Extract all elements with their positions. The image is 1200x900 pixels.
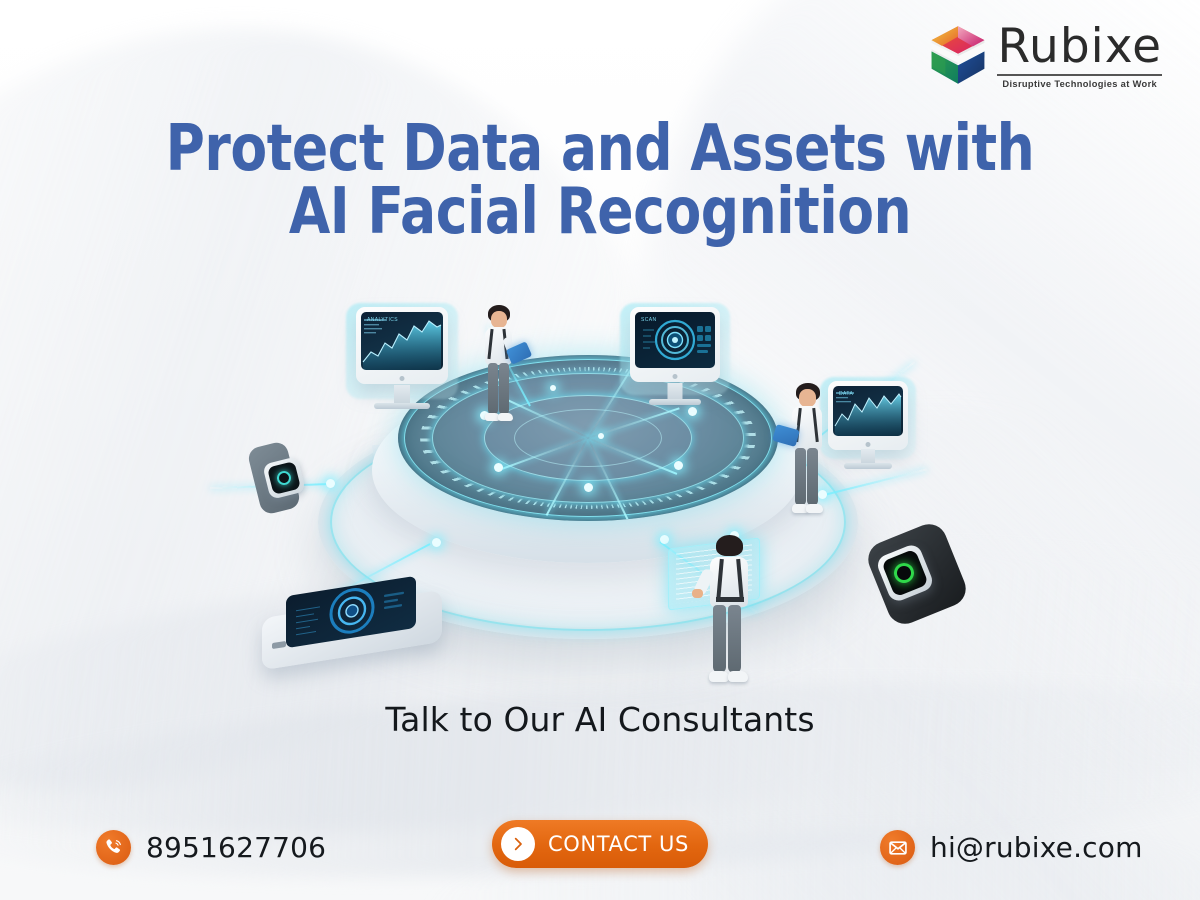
platform-connector-node	[660, 535, 669, 544]
logo-divider	[997, 74, 1162, 76]
hero-illustration: ANALYTICS	[0, 285, 1200, 725]
figure-with-tablet-left	[470, 305, 530, 435]
phone-contact[interactable]: 8951627706	[96, 830, 326, 865]
monitor-analytics-right: DATA	[828, 381, 908, 450]
envelope-icon	[880, 830, 915, 865]
rubixe-hexagon-cube-logo-icon	[929, 24, 987, 86]
scanner-node	[550, 385, 556, 391]
scanner-node	[674, 461, 683, 470]
contact-us-button[interactable]: CONTACT US	[492, 820, 708, 868]
headline-line-2: AI Facial Recognition	[42, 181, 1158, 244]
monitor-analytics-left: ANALYTICS	[356, 307, 448, 384]
monitor-radar-center: SCAN	[630, 307, 720, 382]
email-contact[interactable]: hi@rubixe.com	[880, 830, 1143, 865]
platform-connector-node	[326, 479, 335, 488]
chevron-right-icon	[501, 827, 535, 861]
figure-at-hologram-front	[694, 535, 764, 705]
monitor-screen-label: DATA	[839, 391, 853, 397]
figure-with-tablet-right	[778, 383, 838, 533]
scanner-node	[494, 463, 503, 472]
monitor-screen-label: SCAN	[641, 317, 657, 323]
brand-name: Rubixe	[997, 24, 1162, 70]
scanner-node	[688, 407, 697, 416]
phone-icon	[96, 830, 131, 865]
scanner-node-center	[598, 433, 604, 439]
page-title: Protect Data and Assets with AI Facial R…	[42, 118, 1158, 243]
promo-poster: Rubixe Disruptive Technologies at Work P…	[0, 0, 1200, 900]
headline-line-1: Protect Data and Assets with	[42, 118, 1158, 181]
smartwatch-grey-left	[244, 440, 324, 520]
phone-number: 8951627706	[146, 831, 326, 864]
monitor-screen-label: ANALYTICS	[367, 317, 398, 323]
platform-connector-node	[432, 538, 441, 547]
email-address: hi@rubixe.com	[930, 831, 1143, 864]
contact-us-label: CONTACT US	[548, 832, 689, 856]
subtitle: Talk to Our AI Consultants	[0, 700, 1200, 739]
brand-logo[interactable]: Rubixe Disruptive Technologies at Work	[929, 24, 1162, 89]
tablet-scanner-bottom	[262, 580, 452, 670]
smartwatch-black-right	[864, 525, 974, 625]
brand-tagline: Disruptive Technologies at Work	[997, 79, 1162, 89]
scanner-node	[584, 483, 593, 492]
